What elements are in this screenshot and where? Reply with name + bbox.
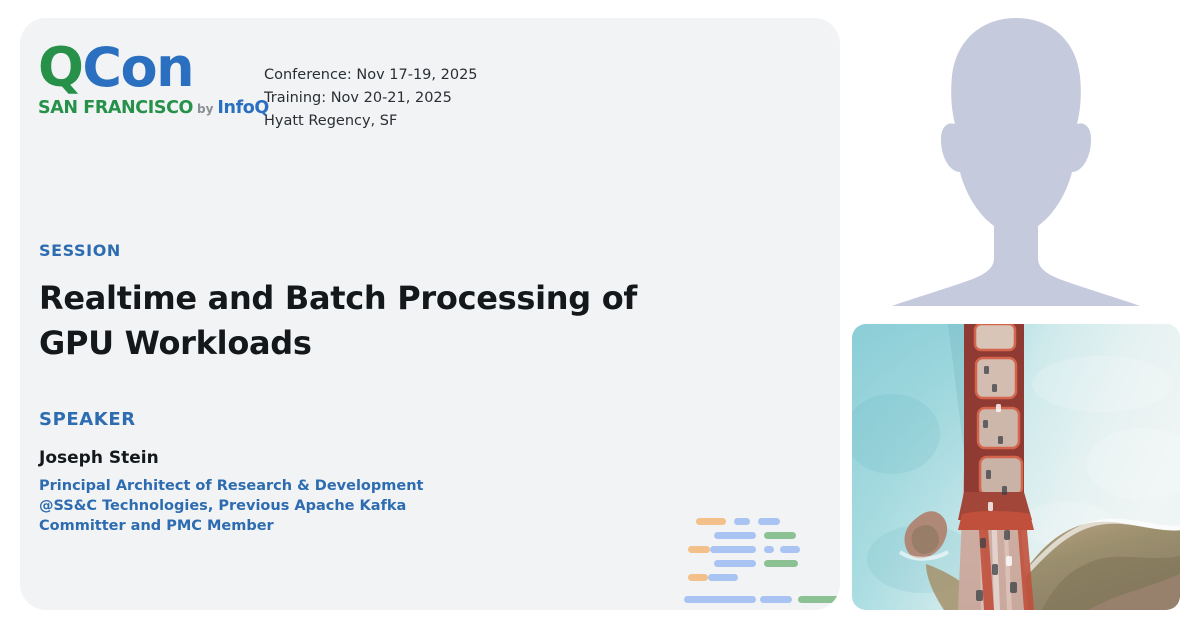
session-label: SESSION: [39, 241, 121, 260]
conference-dates: Conference: Nov 17-19, 2025: [264, 64, 478, 87]
session-card: QCon SAN FRANCISCO by InfoQ Conference: …: [20, 18, 840, 610]
conference-venue: Hyatt Regency, SF: [264, 110, 478, 133]
qcon-logo-by: by: [197, 102, 213, 116]
infoq-logo: InfoQ: [217, 98, 268, 118]
deco-bar: [684, 596, 756, 603]
conference-details: Conference: Nov 17-19, 2025 Training: No…: [264, 38, 478, 133]
person-placeholder-icon: [852, 0, 1180, 306]
deco-bar: [734, 518, 750, 525]
qcon-logo-city: SAN FRANCISCO: [38, 98, 193, 118]
qcon-logo-subtitle: SAN FRANCISCO by InfoQ: [38, 98, 238, 118]
card-header: QCon SAN FRANCISCO by InfoQ Conference: …: [38, 38, 478, 133]
deco-bar: [688, 574, 708, 581]
qcon-logo: QCon SAN FRANCISCO by InfoQ: [38, 38, 238, 118]
deco-bar: [714, 560, 756, 567]
deco-bar: [760, 596, 792, 603]
deco-bar: [758, 518, 780, 525]
golden-gate-bridge-aerial-image: [852, 324, 1180, 610]
speaker-name: Joseph Stein: [39, 448, 159, 468]
deco-bar: [764, 546, 774, 553]
speaker-label: SPEAKER: [39, 409, 136, 430]
qcon-logo-text-con: Con: [82, 36, 193, 99]
deco-bar: [798, 596, 840, 603]
training-dates: Training: Nov 20-21, 2025: [264, 87, 478, 110]
deco-bar: [688, 546, 710, 553]
session-title: Realtime and Batch Processing of GPU Wor…: [39, 276, 699, 366]
deco-bar: [710, 546, 756, 553]
deco-bar: [764, 560, 798, 567]
golden-gate-bridge-photo: [852, 324, 1180, 610]
speaker-avatar: [852, 0, 1180, 306]
deco-bar: [764, 532, 796, 539]
code-snippet-graphic: [676, 496, 840, 610]
qcon-logo-letter-q: Q: [38, 36, 82, 99]
speaker-bio: Principal Architect of Research & Develo…: [39, 476, 459, 536]
deco-bar: [708, 574, 738, 581]
deco-bar: [780, 546, 800, 553]
deco-bar: [714, 532, 756, 539]
qcon-logo-wordmark: QCon: [38, 40, 238, 96]
deco-bar: [696, 518, 726, 525]
